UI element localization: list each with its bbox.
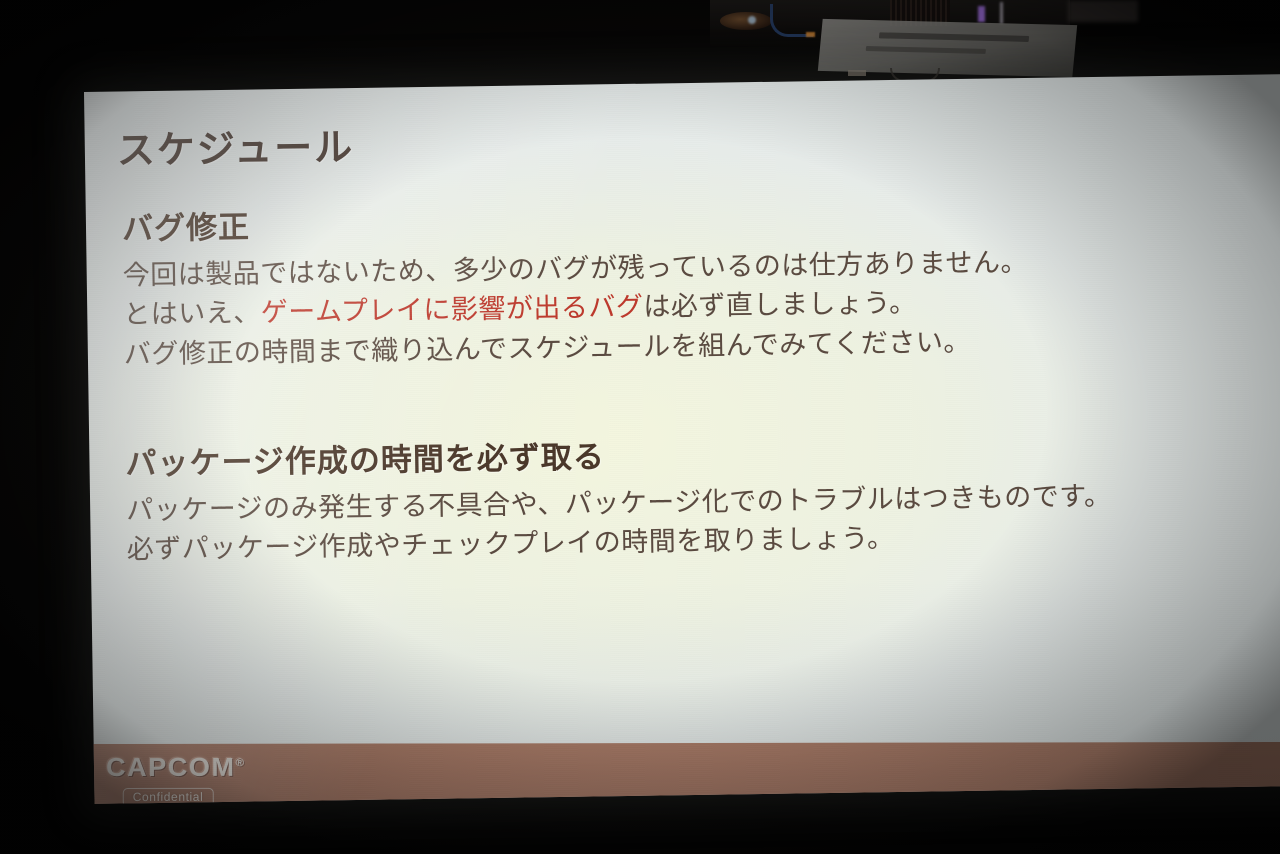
footer-content: CAPCOM® Confidential xyxy=(109,752,242,804)
capcom-logo: CAPCOM® xyxy=(106,752,244,783)
slide-footer-bar: CAPCOM® Confidential xyxy=(85,742,1280,804)
slide-title: スケジュール xyxy=(116,116,354,175)
body-span: 必ずパッケージ作成やチェックプレイの時間を取りましょう。 xyxy=(127,523,895,564)
slide-section-bug-fix: バグ修正 今回は製品ではないため、多少のバグが残っているのは仕方ありません。 と… xyxy=(122,187,1254,375)
capcom-logo-row: CAPCOM® xyxy=(109,752,242,783)
body-span: とはいえ、 xyxy=(123,298,261,330)
section-body: 今回は製品ではないため、多少のバグが残っているのは仕方ありません。 とはいえ、ゲ… xyxy=(122,240,1254,375)
photo-scene: スケジュール バグ修正 今回は製品ではないため、多少のバグが残っているのは仕方あ… xyxy=(0,0,1280,854)
body-span: バグ修正の時間まで織り込んでスケジュールを組んでみてください。 xyxy=(124,327,971,370)
slide-content: スケジュール バグ修正 今回は製品ではないため、多少のバグが残っているのは仕方あ… xyxy=(84,74,1280,804)
section-heading: パッケージ作成の時間を必ず取る xyxy=(125,422,1256,484)
presentation-slide: スケジュール バグ修正 今回は製品ではないため、多少のバグが残っているのは仕方あ… xyxy=(84,74,1280,804)
slide-section-packaging: パッケージ作成の時間を必ず取る パッケージのみ発生する不具合や、パッケージ化での… xyxy=(125,422,1257,571)
registered-trademark-icon: ® xyxy=(236,757,244,769)
section-heading: バグ修正 xyxy=(122,187,1253,249)
projection-screen: スケジュール バグ修正 今回は製品ではないため、多少のバグが残っているのは仕方あ… xyxy=(0,0,1280,854)
confidential-badge-row: Confidential xyxy=(109,783,242,804)
capcom-wordmark: CAPCOM xyxy=(106,752,236,782)
section-body: パッケージのみ発生する不具合や、パッケージ化でのトラブルはつきものです。 必ずパ… xyxy=(126,475,1257,571)
body-span-highlight: ゲームプレイに影響が出るバグ xyxy=(261,292,644,328)
confidential-badge: Confidential xyxy=(123,788,214,804)
body-span: は必ず直しましょう。 xyxy=(643,288,917,322)
